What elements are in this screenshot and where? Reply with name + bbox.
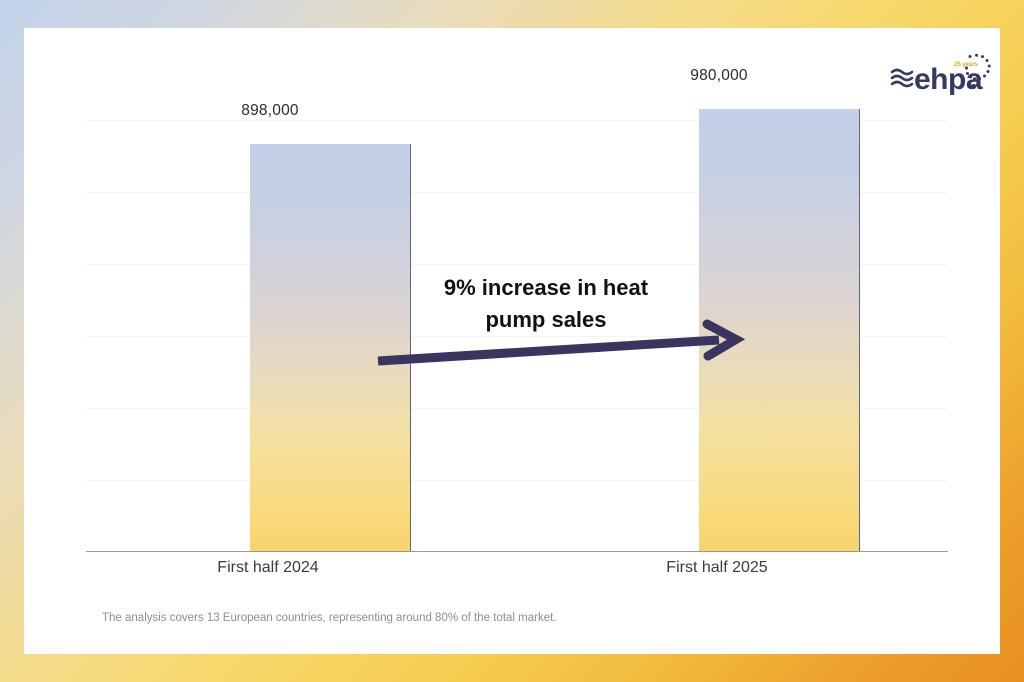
growth-arrow-icon	[364, 318, 754, 373]
annotation-line-1: 9% increase in heat	[396, 272, 696, 304]
x-axis-line	[86, 551, 948, 552]
logo-anniversary-label: 25 years	[954, 62, 979, 68]
decorative-gradient-frame: ehpa 25 years	[0, 0, 1024, 682]
bar-value-label-2025: 980,000	[639, 67, 799, 85]
category-label-2024: First half 2024	[180, 559, 356, 577]
category-label-2025: First half 2025	[629, 559, 805, 577]
bar-value-label-2024: 898,000	[190, 102, 350, 120]
footnote-text: The analysis covers 13 European countrie…	[102, 612, 557, 624]
chart-card: ehpa 25 years	[24, 28, 1000, 654]
